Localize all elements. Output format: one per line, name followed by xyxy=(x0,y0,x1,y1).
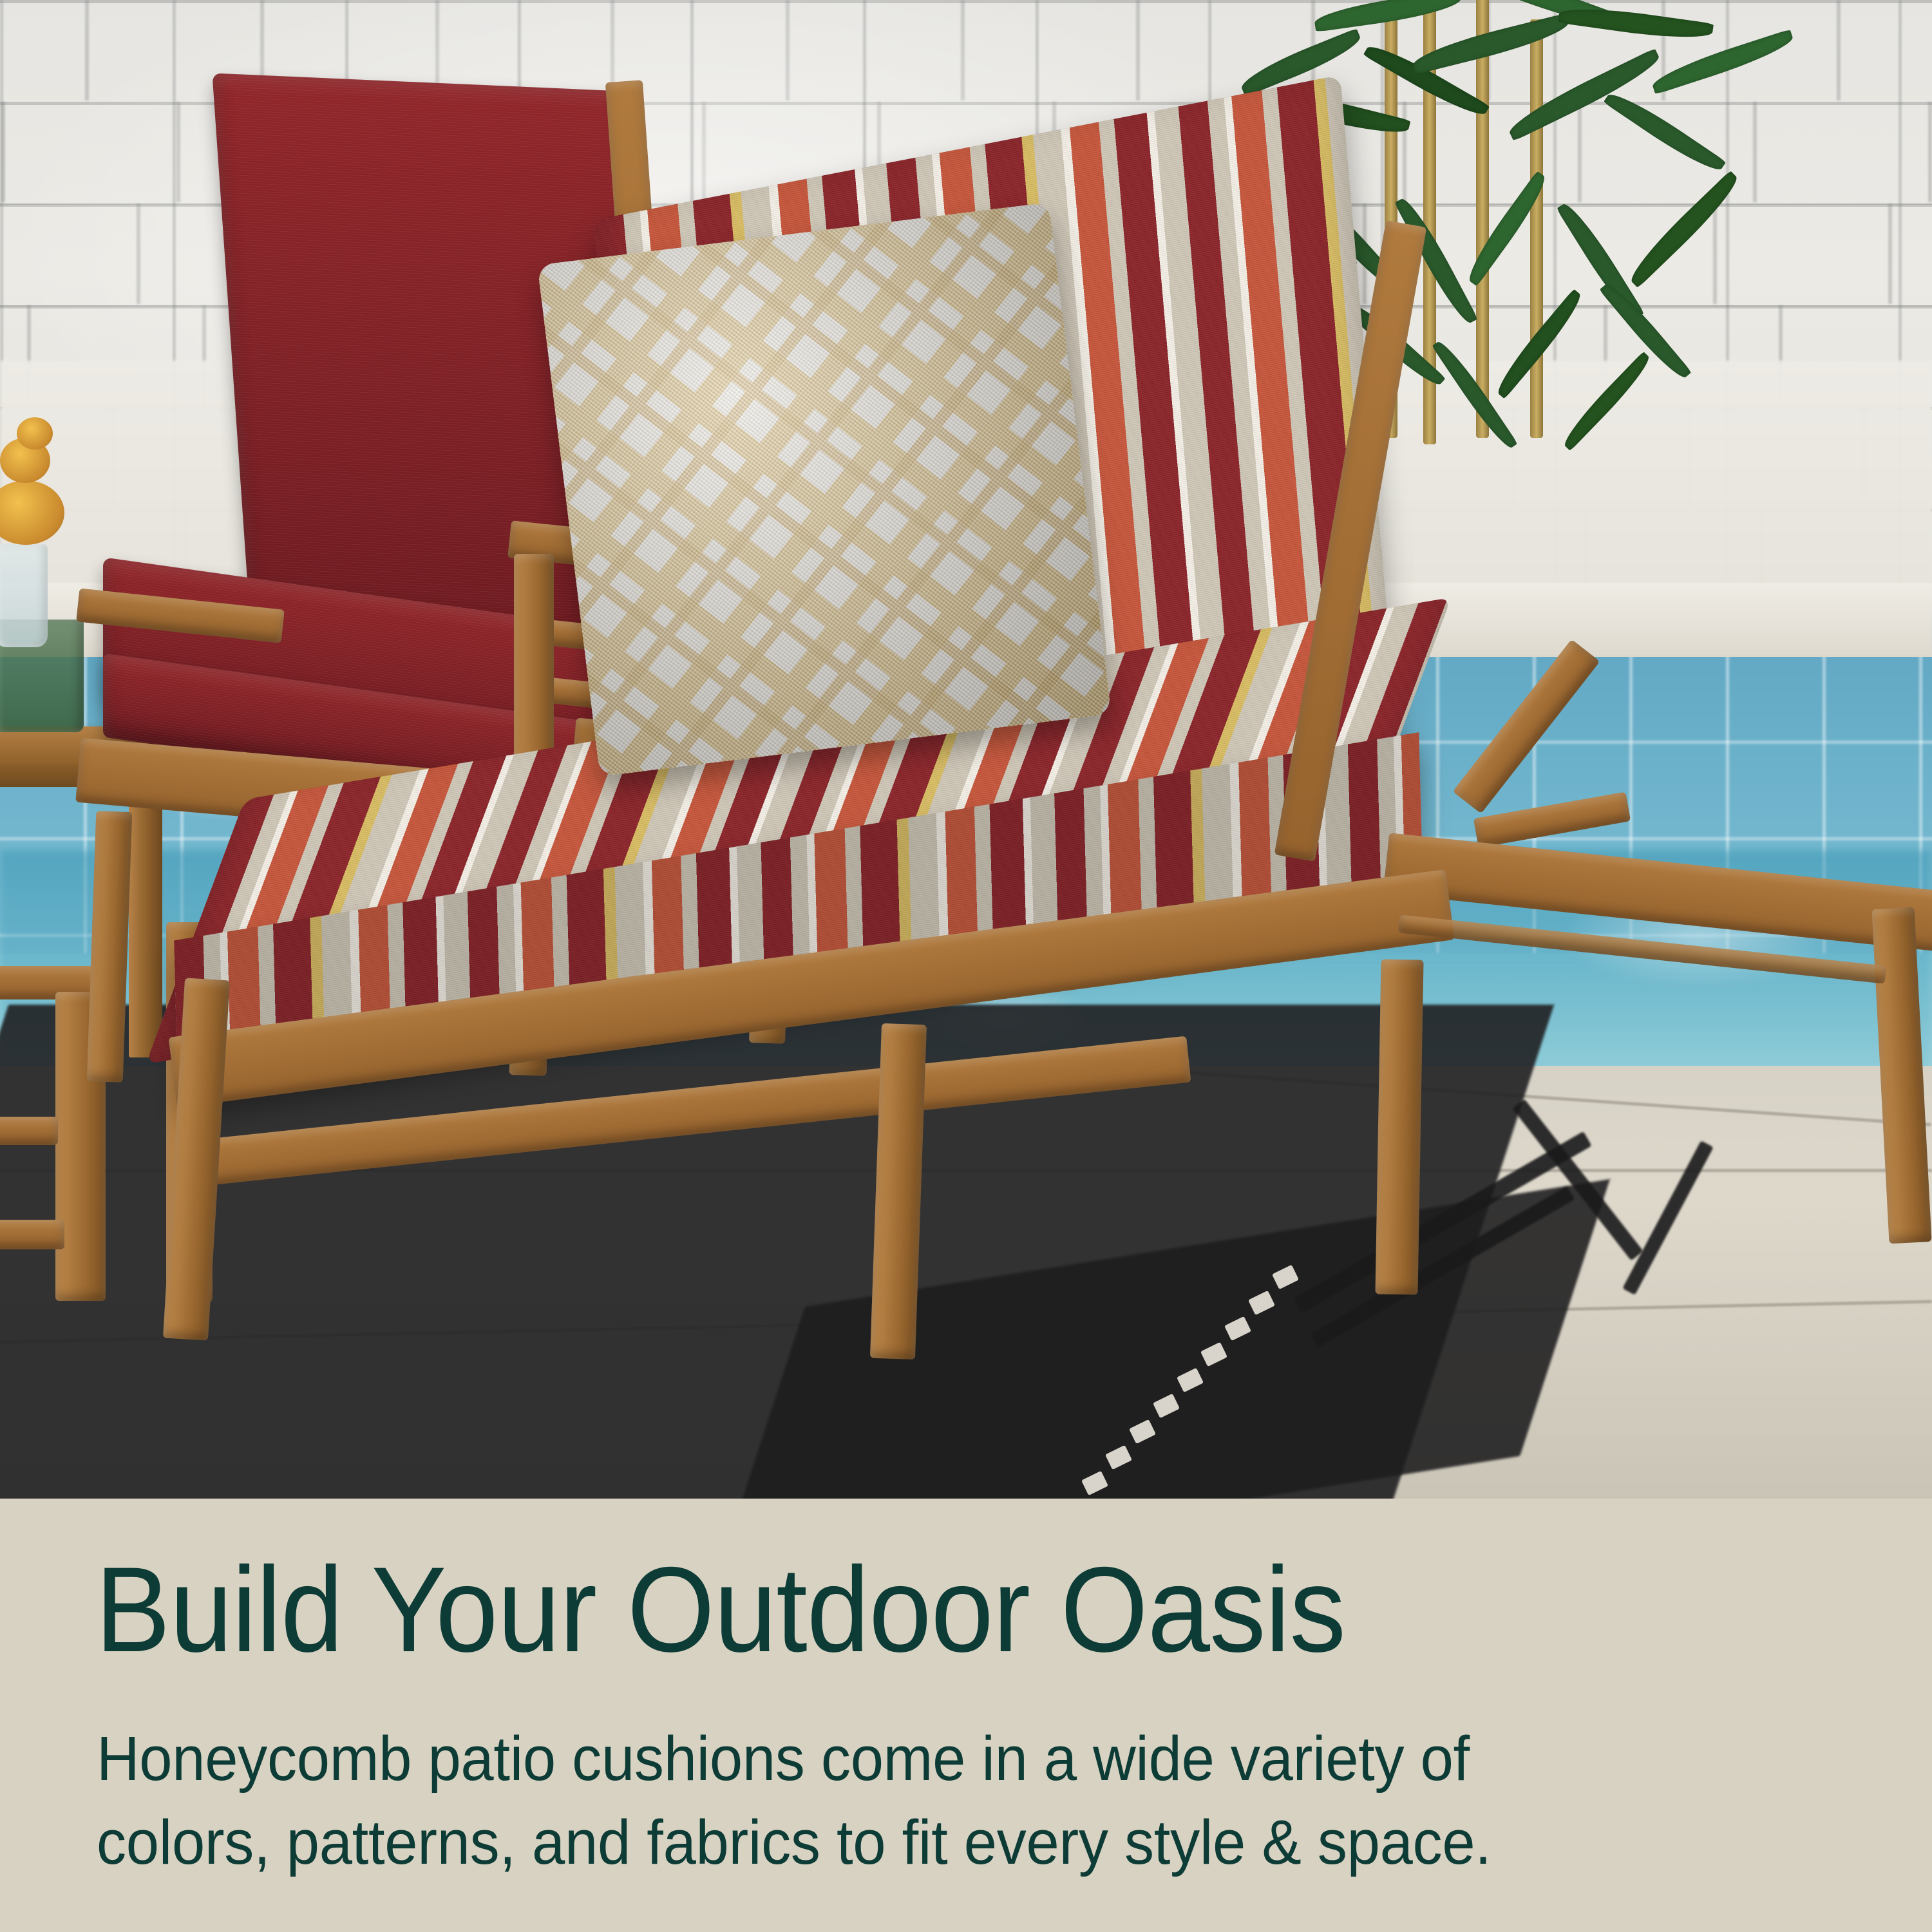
chaise-leg-far-right xyxy=(1871,907,1931,1244)
bamboo-leaf xyxy=(1649,29,1797,95)
bamboo-leaf xyxy=(1604,86,1727,178)
chaise-lounge xyxy=(335,296,1932,1417)
chaise-leg-back-right xyxy=(1375,959,1423,1294)
page-title: Build Your Outdoor Oasis xyxy=(95,1549,1748,1670)
flower-bloom xyxy=(17,417,53,450)
throw-pillow xyxy=(537,202,1112,777)
wood-bench-rail xyxy=(0,1220,64,1249)
chaise-backrest-brace-lower xyxy=(1473,792,1631,848)
promo-banner-image: Build Your Outdoor Oasis Honeycomb patio… xyxy=(0,0,1932,1932)
flower-vase xyxy=(0,544,48,647)
patio-scene-photo xyxy=(0,0,1932,1499)
pillow-shading xyxy=(537,202,1112,777)
page-subtitle-line-2: colors, patterns, and fabrics to fit eve… xyxy=(97,1801,1773,1884)
page-subtitle-line-1: Honeycomb patio cushions come in a wide … xyxy=(97,1717,1773,1801)
page-subtitle: Honeycomb patio cushions come in a wide … xyxy=(97,1717,1773,1884)
bamboo-leaf xyxy=(1624,171,1745,289)
chaise-backrest-brace xyxy=(1453,639,1600,814)
wood-bench-rail xyxy=(0,1117,58,1145)
